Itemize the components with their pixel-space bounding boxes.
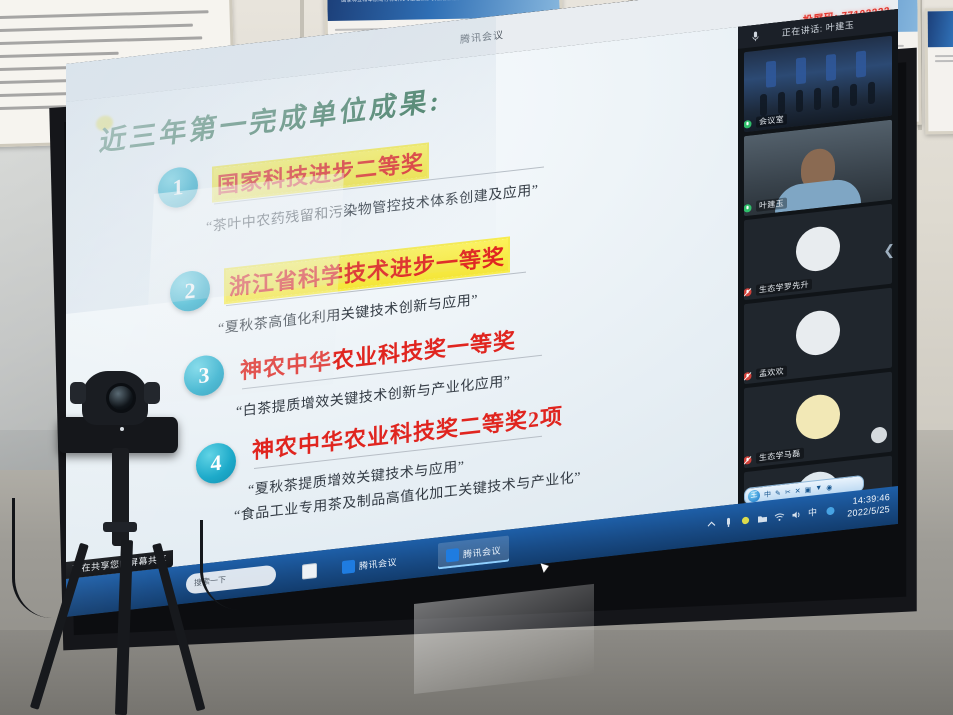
avatar: [796, 392, 840, 441]
app-title: 腾讯会议: [460, 26, 504, 46]
tencent-meeting-icon: [446, 548, 459, 562]
participant-rail[interactable]: 正在讲话: 叶建玉: [738, 9, 898, 504]
ime-key-scissors-icon[interactable]: ✂: [785, 487, 791, 496]
status-dot: [871, 426, 887, 444]
tripod-knob: [103, 522, 137, 532]
ime-indicator-icon[interactable]: 中: [808, 507, 819, 519]
floor-cable: [200, 520, 323, 610]
tripod-leg: [115, 540, 133, 715]
participant-tile[interactable]: 生态学马磊: [744, 372, 892, 469]
ime-key-settings-icon[interactable]: ◉: [826, 483, 832, 492]
participant-name: 生态学罗先升: [756, 279, 812, 296]
ime-key-close-icon[interactable]: ✕: [795, 486, 801, 495]
poster-band-subtitle: 国家林业和草原局竹林研究与生态保护安徽省重点实验室: [341, 0, 550, 4]
participant-tile[interactable]: 叶建玉: [744, 120, 892, 217]
award-item: 2 浙江省科学技术进步一等奖 “夏秋茶高值化利用关键技术创新与应用”: [66, 210, 738, 285]
ime-key-pen-icon[interactable]: ✎: [775, 489, 781, 498]
taskbar-button-label: 腾讯会议: [359, 554, 397, 571]
chevron-up-icon[interactable]: [706, 518, 717, 530]
microphone-icon: [744, 119, 752, 129]
circle-icon[interactable]: [740, 514, 751, 526]
microphone-muted-icon: [744, 455, 752, 465]
taskbar-button-tencent-meeting-2[interactable]: 腾讯会议: [438, 535, 509, 569]
onedrive-icon[interactable]: [825, 505, 836, 517]
camera-led: [120, 427, 124, 431]
photo-of-conference-room: 国家林业和草原局竹林研究与生态保护安徽省重点实验室 网站安全管理制度 国家林业和…: [0, 0, 953, 715]
ptz-conference-camera: [58, 365, 178, 460]
award-number-badge: 1: [158, 165, 198, 209]
usb-icon[interactable]: [723, 516, 734, 528]
microphone-muted-icon: [744, 287, 752, 297]
microphone-muted-icon: [744, 371, 752, 381]
participant-tile[interactable]: 孟欢欢: [744, 288, 892, 385]
ime-key-chinese-icon[interactable]: 中: [764, 489, 771, 500]
award-number-badge: 2: [170, 269, 210, 313]
ime-key-chevron-down-icon[interactable]: ▼: [815, 484, 822, 492]
participant-tile[interactable]: 生态学罗先升: [744, 204, 892, 301]
rail-prev-arrow[interactable]: ❮: [883, 241, 895, 259]
microphone-icon: [752, 31, 759, 43]
taskbar-tray[interactable]: 中: [706, 505, 836, 531]
ime-key-panel-icon[interactable]: ▣: [805, 485, 812, 494]
taskbar-clock[interactable]: 14:39:46 2022/5/25: [847, 491, 890, 520]
folder-icon[interactable]: [757, 513, 768, 525]
microphone-icon: [744, 203, 752, 213]
participant-tile[interactable]: 会议室: [744, 36, 892, 133]
award-number-badge: 3: [184, 353, 224, 397]
ime-logo-icon[interactable]: 王: [748, 489, 760, 502]
speaking-label: 正在讲话:: [782, 23, 823, 38]
tripod-leg: [152, 543, 205, 711]
avatar: [796, 308, 840, 357]
taskbar-button-label: 腾讯会议: [463, 543, 501, 560]
wall-poster-partial: [925, 8, 953, 134]
camera-side-left: [70, 382, 86, 404]
camera-lens: [106, 383, 136, 413]
wifi-icon[interactable]: [774, 511, 785, 523]
participant-name: 生态学马磊: [756, 448, 804, 464]
speaking-name: 叶建玉: [826, 20, 855, 33]
camera-side-right: [144, 382, 160, 404]
camera-cable: [12, 498, 95, 618]
tencent-meeting-icon: [342, 559, 355, 573]
participant-name: 孟欢欢: [756, 365, 787, 379]
volume-icon[interactable]: [791, 509, 802, 521]
taskbar-button-tencent-meeting-1[interactable]: 腾讯会议: [334, 547, 405, 581]
avatar: [796, 224, 840, 273]
